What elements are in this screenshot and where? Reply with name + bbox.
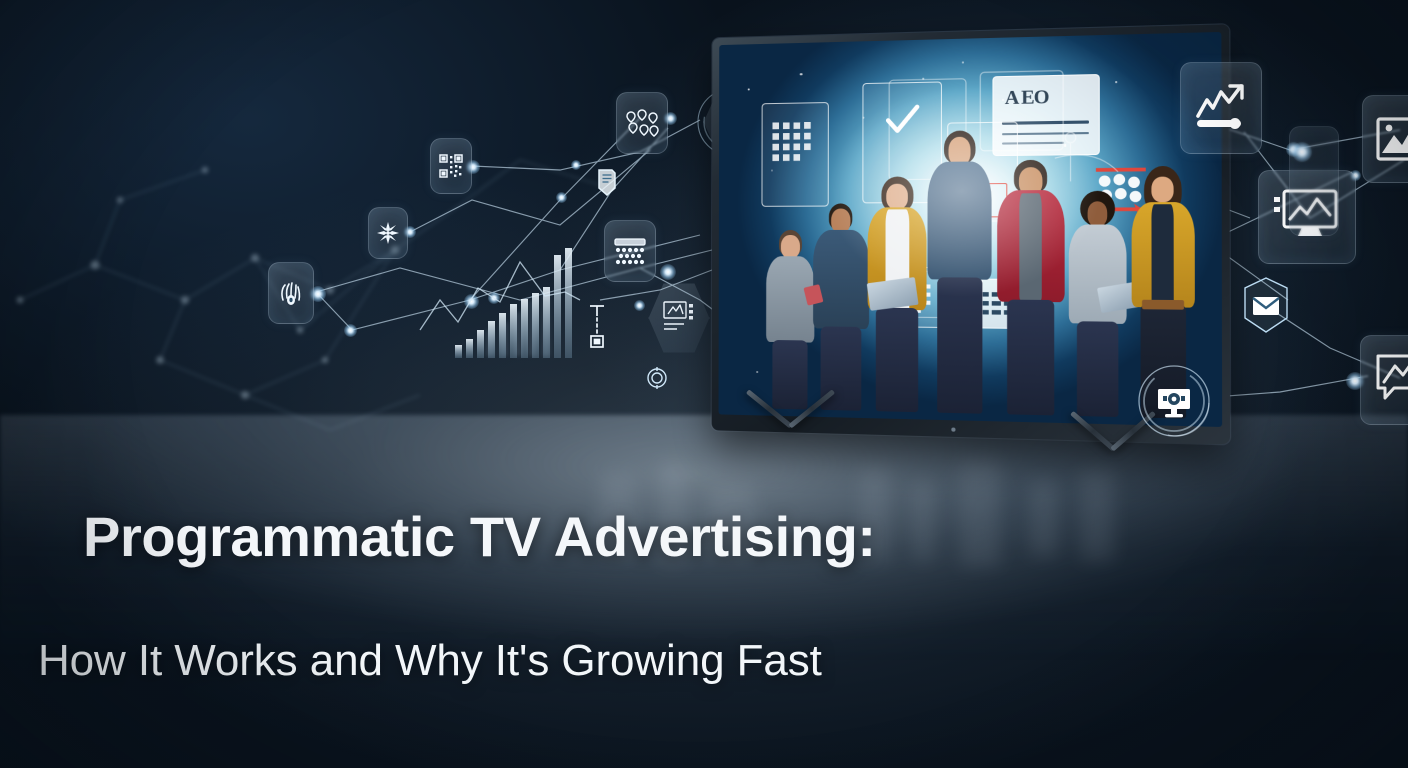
network-node: [464, 294, 479, 309]
document-stack-icon: [594, 165, 620, 199]
page-subtitle: How It Works and Why It's Growing Fast: [38, 637, 822, 685]
display-broadcast-badge-icon: [1135, 362, 1213, 440]
audience-keyboard-icon: [604, 220, 656, 282]
subtitle-text: How It Works and Why It's Growing Fast: [38, 637, 822, 685]
title-text: Programmatic TV Advertising:: [83, 508, 876, 567]
lollipop-chart-icon: [586, 300, 608, 352]
mountain-image-icon: [1362, 95, 1408, 183]
circle-target-icon: [644, 365, 670, 391]
person-5: [992, 160, 1069, 416]
network-node: [571, 160, 581, 170]
page-title: Programmatic TV Advertising:: [83, 508, 876, 567]
asterisk-spark-icon: [368, 207, 408, 259]
fingerprint-hand-icon: [268, 262, 314, 324]
chat-bubble-chart-icon: [1360, 335, 1408, 425]
network-node: [556, 192, 567, 203]
qr-code-icon: [430, 138, 472, 194]
trending-up-arrow-icon: [1180, 62, 1262, 154]
chart-badge-hexagon-icon: [648, 282, 710, 354]
promotional-banner: A EO: [0, 0, 1408, 768]
network-node: [344, 324, 357, 337]
envelope-mail-icon: [1235, 275, 1297, 337]
laptop-device: [866, 277, 918, 311]
network-node: [660, 264, 676, 280]
person-6: [1064, 190, 1132, 417]
person-4: [922, 130, 997, 414]
network-node: [634, 300, 645, 311]
location-pins-grid-icon: [616, 92, 668, 154]
network-node: [488, 292, 500, 304]
tv-indicator-led: [951, 427, 955, 431]
panel-tile-right-edge: [1289, 126, 1339, 236]
